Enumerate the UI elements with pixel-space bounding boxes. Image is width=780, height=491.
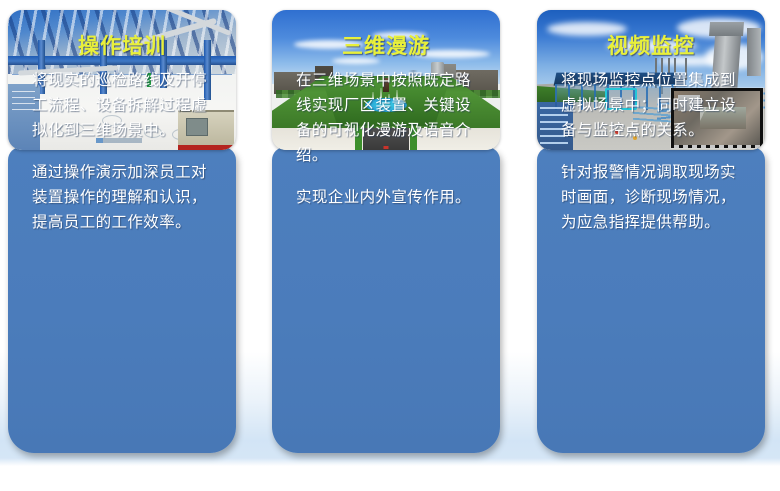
feature-card-row: 操作培训 将现实的巡检路线及开停工流程、设备拆解过程虚拟化到三维场景中。 通过操… xyxy=(0,0,780,491)
card-paragraph: 实现企业内外宣传作用。 xyxy=(296,185,480,210)
card-title-video-surveillance: 视频监控 xyxy=(537,30,765,60)
card-paragraph: 针对报警情况调取现场实时画面，诊断现场情况，为应急指挥提供帮助。 xyxy=(561,160,745,235)
card-title-three-dimensional-roaming: 三维漫游 xyxy=(272,30,500,60)
card-description-three-dimensional-roaming: 在三维场景中按照既定路线实现厂区装置、关键设备的可视化漫游及语音介绍。 实现企业… xyxy=(296,68,480,210)
feature-card-operation-training[interactable]: 操作培训 将现实的巡检路线及开停工流程、设备拆解过程虚拟化到三维场景中。 通过操… xyxy=(8,10,236,453)
feature-card-video-surveillance[interactable]: 视频监控 将现场监控点位置集成到虚拟场景中；同时建立设备与监控点的关系。 针对报… xyxy=(537,10,765,453)
card-description-operation-training: 将现实的巡检路线及开停工流程、设备拆解过程虚拟化到三维场景中。 通过操作演示加深… xyxy=(32,68,216,235)
card-title-operation-training: 操作培训 xyxy=(8,30,236,60)
card-paragraph: 将现实的巡检路线及开停工流程、设备拆解过程虚拟化到三维场景中。 xyxy=(32,68,216,143)
card-paragraph: 通过操作演示加深员工对装置操作的理解和认识，提高员工的工作效率。 xyxy=(32,160,216,235)
feature-card-three-dimensional-roaming[interactable]: 三维漫游 在三维场景中按照既定路线实现厂区装置、关键设备的可视化漫游及语音介绍。… xyxy=(272,10,500,453)
card-description-video-surveillance: 将现场监控点位置集成到虚拟场景中；同时建立设备与监控点的关系。 针对报警情况调取… xyxy=(561,68,745,235)
card-paragraph: 将现场监控点位置集成到虚拟场景中；同时建立设备与监控点的关系。 xyxy=(561,68,745,143)
card-paragraph: 在三维场景中按照既定路线实现厂区装置、关键设备的可视化漫游及语音介绍。 xyxy=(296,68,480,168)
